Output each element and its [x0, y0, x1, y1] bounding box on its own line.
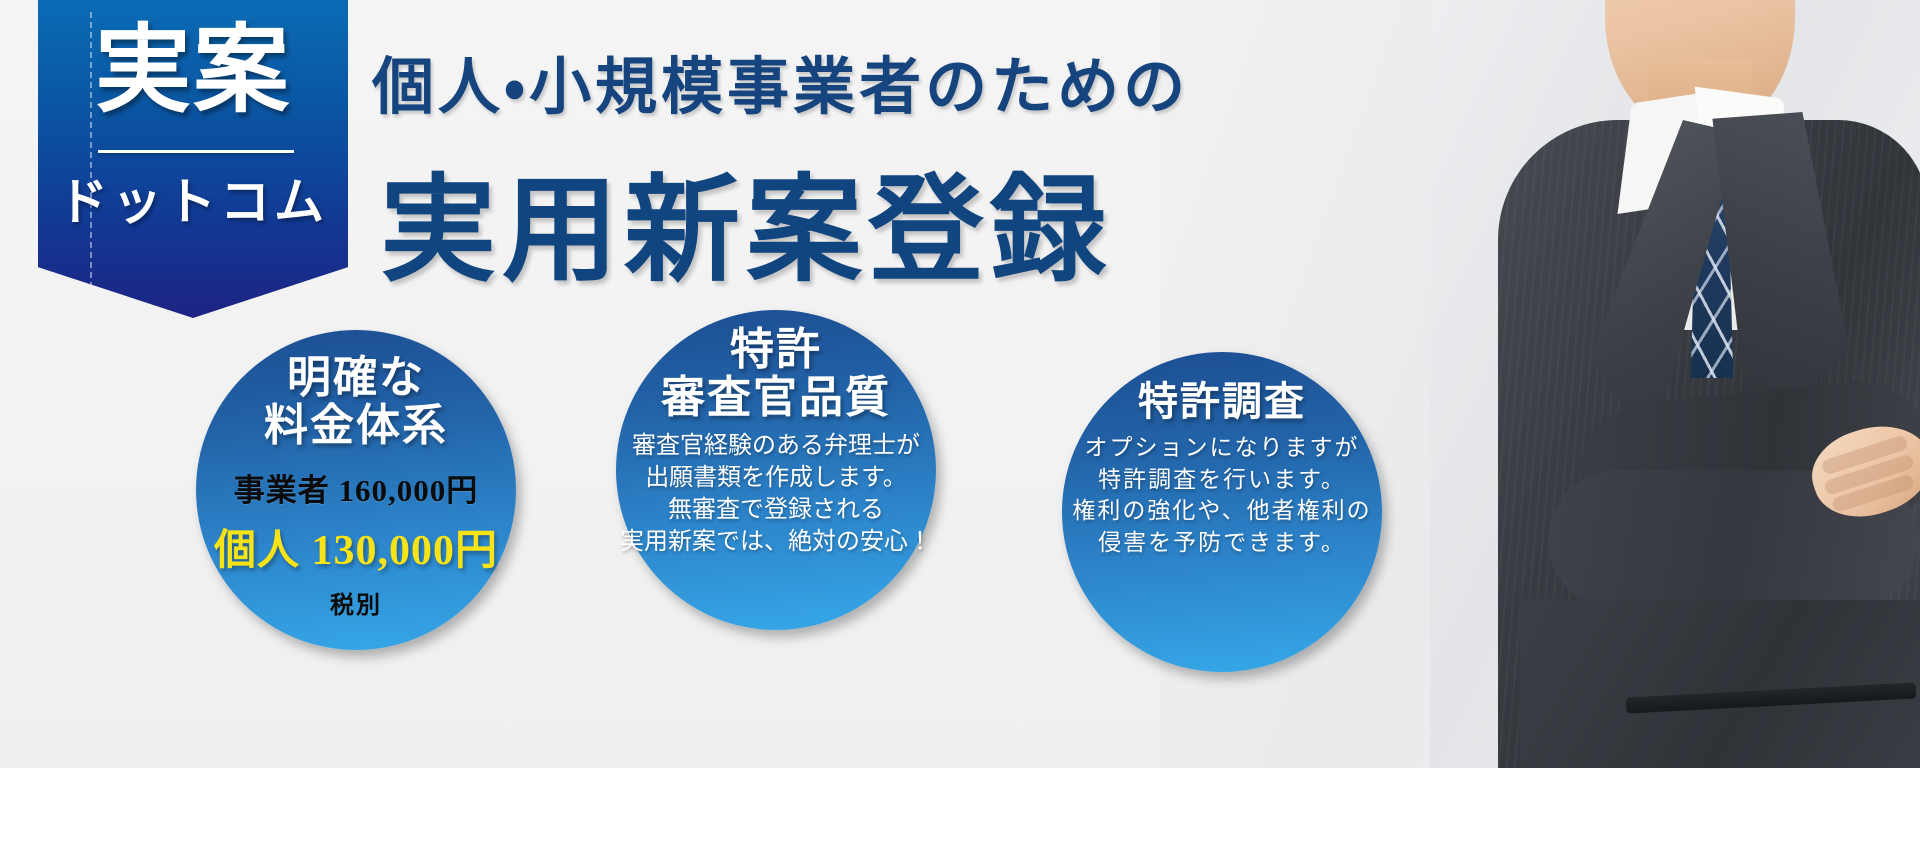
pricing-title-line1: 明確な — [287, 354, 425, 402]
site-logo-ribbon[interactable]: 実案 ドットコム — [38, 0, 348, 318]
photo-jacket-waist — [1520, 600, 1920, 768]
examiner-body-line1: 審査官経験のある弁理士が — [620, 431, 932, 463]
hero-banner: 実案 ドットコム 個人・小規模事業者のための 実用新案登録 明確な 料金体系 事… — [0, 0, 1920, 846]
examiner-body: 審査官経験のある弁理士が 出願書類を作成します。 無審査で登録される 実用新案で… — [620, 431, 932, 559]
logo-divider — [98, 150, 294, 153]
logo-main-text: 実案 — [38, 22, 348, 120]
businessman-photo — [1430, 0, 1920, 768]
search-body-line1: オプションになりますが — [1072, 432, 1371, 464]
feature-circle-pricing[interactable]: 明確な 料金体系 事業者 160,000円 個人 130,000円 税別 — [196, 330, 516, 650]
feature-circle-examiner-quality[interactable]: 特許 審査官品質 審査官経験のある弁理士が 出願書類を作成します。 無審査で登録… — [616, 310, 936, 630]
logo-sub-text: ドットコム — [38, 162, 348, 234]
examiner-title-line1: 特許 — [730, 326, 822, 374]
examiner-body-line4: 実用新案では、絶対の安心！ — [620, 527, 932, 559]
hero-kicker: 個人・小規模事業者のための — [372, 36, 1189, 126]
examiner-title-line2: 審査官品質 — [661, 374, 891, 422]
search-body: オプションになりますが 特許調査を行います。 権利の強化や、他者権利の 侵害を予… — [1072, 432, 1371, 559]
search-body-line4: 侵害を予防できます。 — [1072, 527, 1371, 559]
search-body-line3: 権利の強化や、他者権利の — [1072, 495, 1371, 527]
feature-circle-patent-search[interactable]: 特許調査 オプションになりますが 特許調査を行います。 権利の強化や、他者権利の… — [1062, 352, 1382, 672]
hero-headline: 実用新案登録 — [380, 136, 1112, 304]
examiner-body-line3: 無審査で登録される — [620, 495, 932, 527]
search-body-line2: 特許調査を行います。 — [1072, 464, 1371, 496]
examiner-body-line2: 出願書類を作成します。 — [620, 463, 932, 495]
price-tax-note: 税別 — [330, 585, 382, 620]
price-business: 事業者 160,000円 — [234, 465, 479, 510]
price-individual: 個人 130,000円 — [214, 516, 498, 577]
pricing-title-line2: 料金体系 — [264, 402, 448, 450]
search-title-line1: 特許調査 — [1138, 380, 1306, 424]
